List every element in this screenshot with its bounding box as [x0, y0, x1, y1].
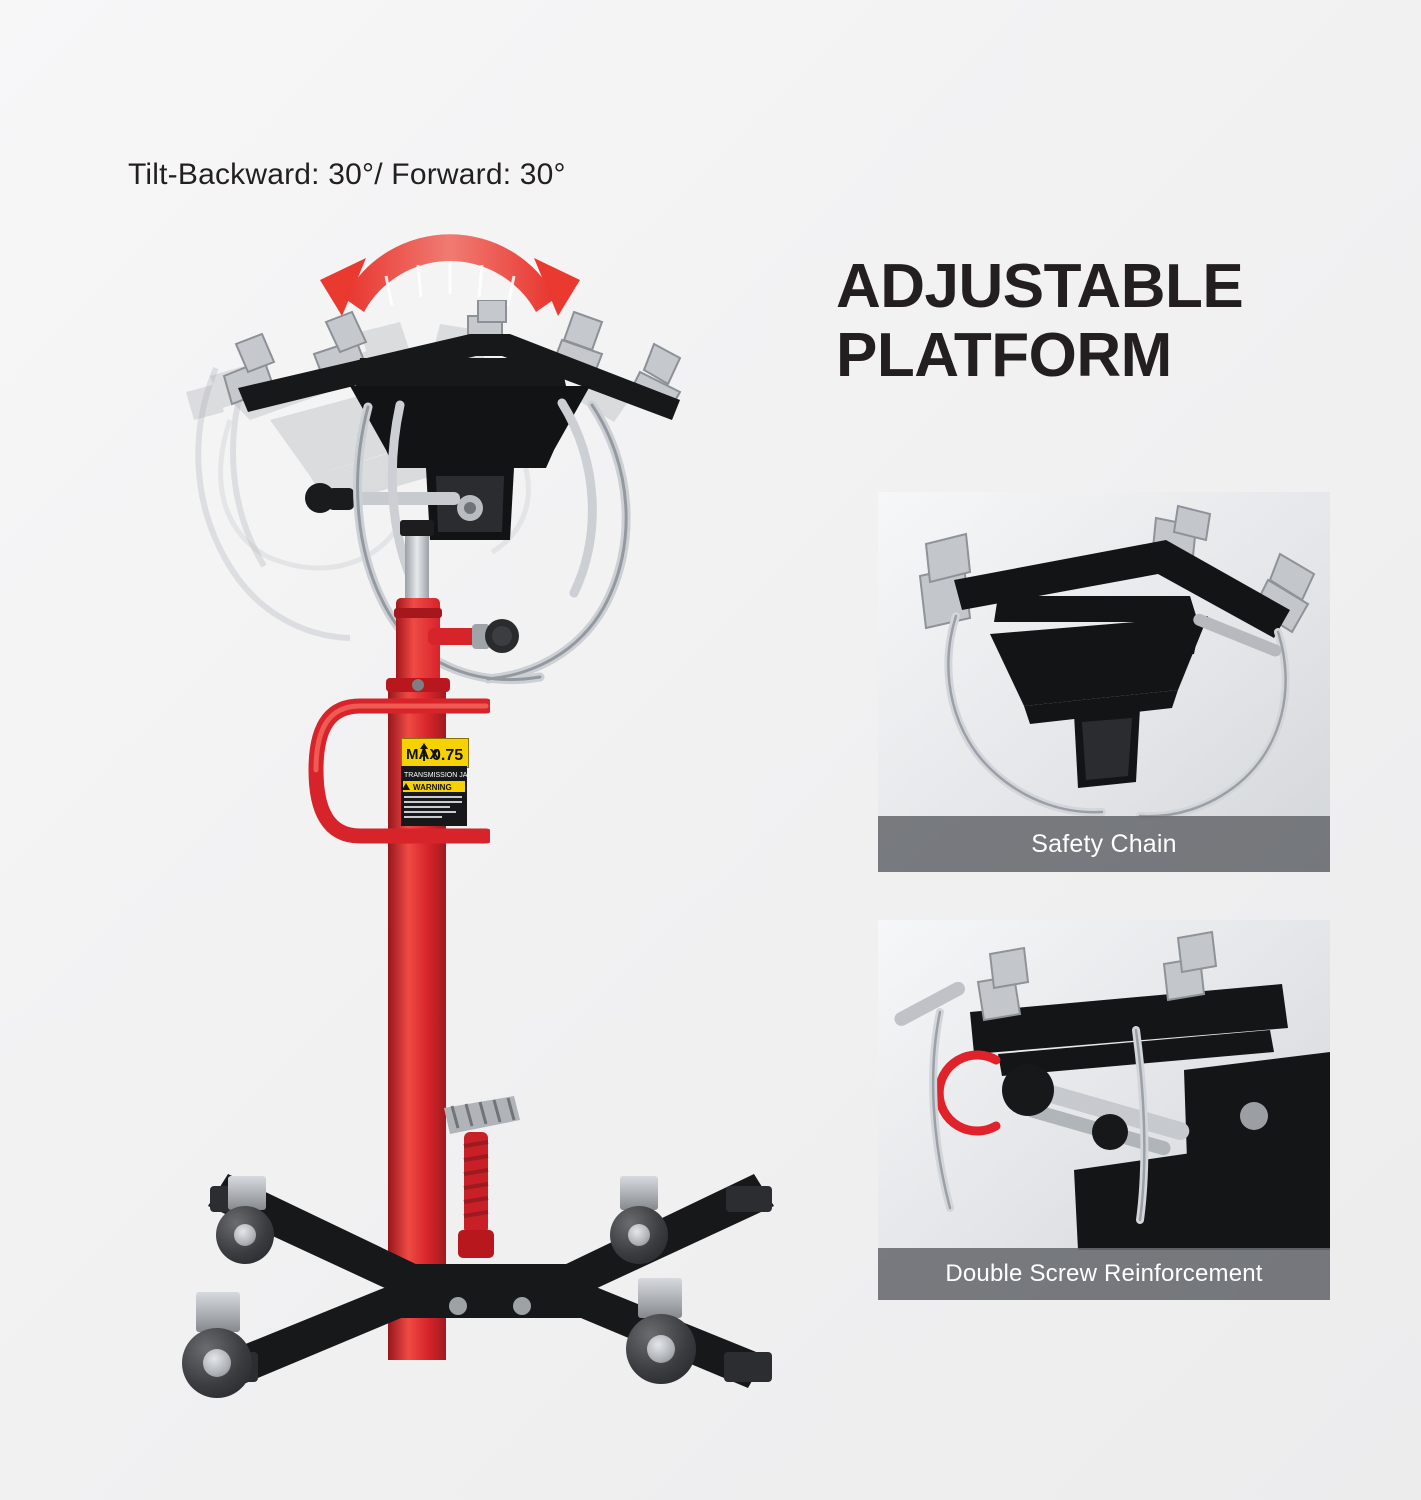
page-title: ADJUSTABLE PLATFORM [836, 252, 1396, 391]
double-screw-photo [878, 920, 1330, 1300]
product-illustration: MAX 0.75 TRANSMISSION JACK WARNING [150, 210, 830, 1440]
svg-text:TRANSMISSION JACK: TRANSMISSION JACK [404, 772, 467, 779]
svg-text:0.75: 0.75 [432, 747, 463, 764]
chrome-ram [405, 530, 429, 600]
card-caption-safety-chain: Safety Chain [878, 816, 1330, 872]
base-legs [170, 1140, 810, 1440]
locking-knob [420, 606, 530, 666]
headline-line-1: ADJUSTABLE [836, 252, 1396, 321]
card-caption-double-screw: Double Screw Reinforcement [878, 1248, 1330, 1300]
product-feature-image: Tilt-Backward: 30°/ Forward: 30° [0, 0, 1421, 1500]
svg-text:WARNING: WARNING [413, 783, 452, 792]
capacity-label: MAX 0.75 [401, 738, 469, 768]
safety-chains [240, 395, 720, 725]
headline-line-2: PLATFORM [836, 321, 1396, 390]
feature-card-safety-chain: Safety Chain [878, 492, 1330, 872]
feature-card-double-screw: Double Screw Reinforcement [878, 920, 1330, 1300]
warning-label: TRANSMISSION JACK WARNING [401, 766, 467, 826]
ram-collar [400, 520, 434, 536]
tilt-caption: Tilt-Backward: 30°/ Forward: 30° [128, 158, 566, 192]
safety-chain-photo [878, 492, 1330, 872]
